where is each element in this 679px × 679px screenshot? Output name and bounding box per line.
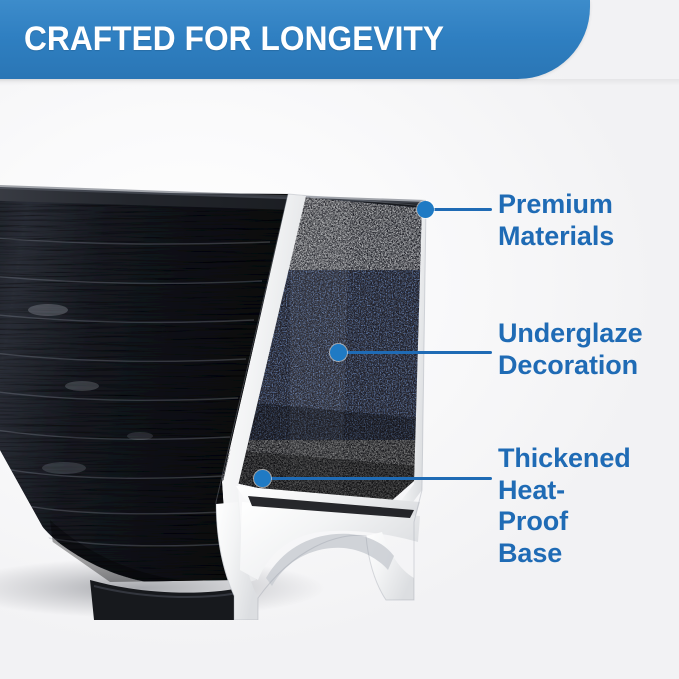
leader-line-premium-materials xyxy=(430,208,492,211)
leader-line-underglaze-decoration xyxy=(344,351,492,354)
callout-dot-underglaze-decoration[interactable] xyxy=(330,344,347,361)
leader-line-thickened-heat-proof-base xyxy=(268,477,492,480)
infographic-canvas: CRAFTED FOR LONGEVITY xyxy=(0,0,679,679)
callout-label-premium-materials: Premium Materials xyxy=(498,189,614,252)
product-image-bowl-cutaway xyxy=(0,150,460,620)
banner-shadow xyxy=(0,79,679,86)
callout-label-thickened-heat-proof-base: Thickened Heat-Proof Base xyxy=(498,443,631,569)
callout-dot-premium-materials[interactable] xyxy=(417,201,434,218)
callout-dot-thickened-heat-proof-base[interactable] xyxy=(254,470,271,487)
banner-title: CRAFTED FOR LONGEVITY xyxy=(24,20,444,59)
callout-label-underglaze-decoration: Underglaze Decoration xyxy=(498,318,643,381)
header-banner: CRAFTED FOR LONGEVITY xyxy=(0,0,590,79)
